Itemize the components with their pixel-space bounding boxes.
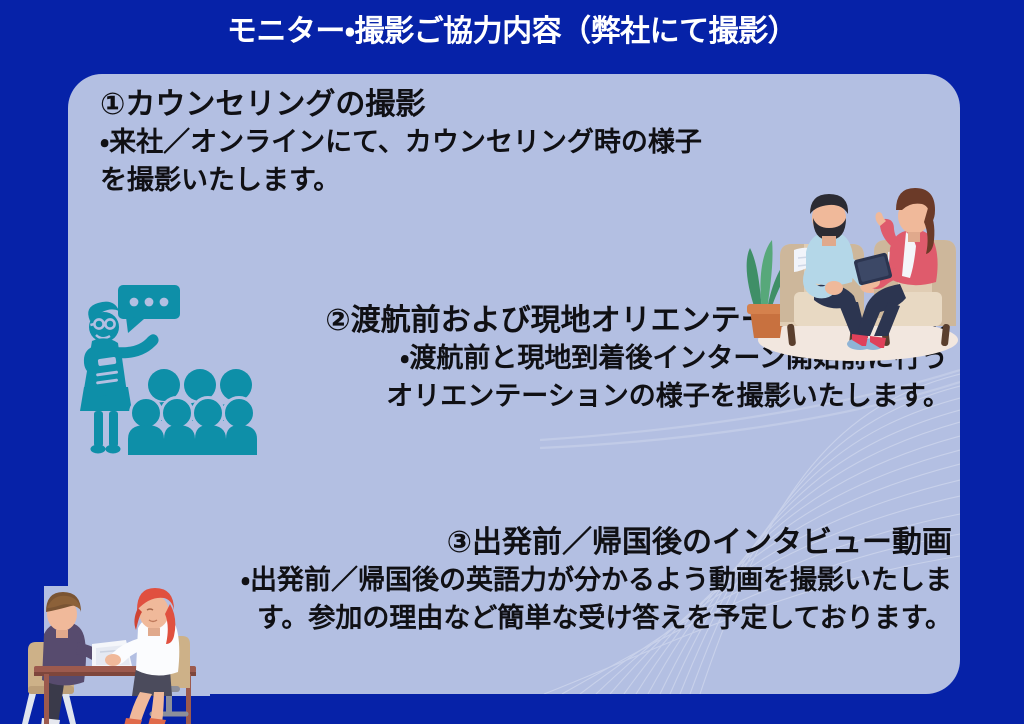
presenter-audience-icon: [76, 279, 266, 455]
section-1-line-1: ・来社／オンラインにて、カウンセリング時の様子: [100, 124, 702, 162]
section-3: ③出発前／帰国後のインタビュー動画 ・出発前／帰国後の英語力が分かるよう動画を撮…: [106, 524, 960, 638]
counseling-session-illustration: [740, 152, 960, 367]
section-1-line-2: を撮影いたします。: [100, 162, 702, 200]
page-title: モニター・撮影ご協力内容（弊社にて撮影）: [0, 14, 1024, 50]
section-2-line-2: オリエンテーションの様子を撮影いたします。: [188, 378, 950, 416]
section-3-heading: ③出発前／帰国後のインタビュー動画: [106, 524, 952, 562]
section-1-heading: ①カウンセリングの撮影: [100, 86, 702, 124]
interview-scene-illustration: [0, 586, 210, 724]
section-1: ①カウンセリングの撮影 ・来社／オンラインにて、カウンセリング時の様子 を撮影い…: [100, 86, 702, 200]
section-3-line-1: ・出発前／帰国後の英語力が分かるよう動画を撮影いたしま: [106, 562, 952, 600]
section-3-line-2: す。参加の理由など簡単な受け答えを予定しております。: [106, 600, 952, 638]
